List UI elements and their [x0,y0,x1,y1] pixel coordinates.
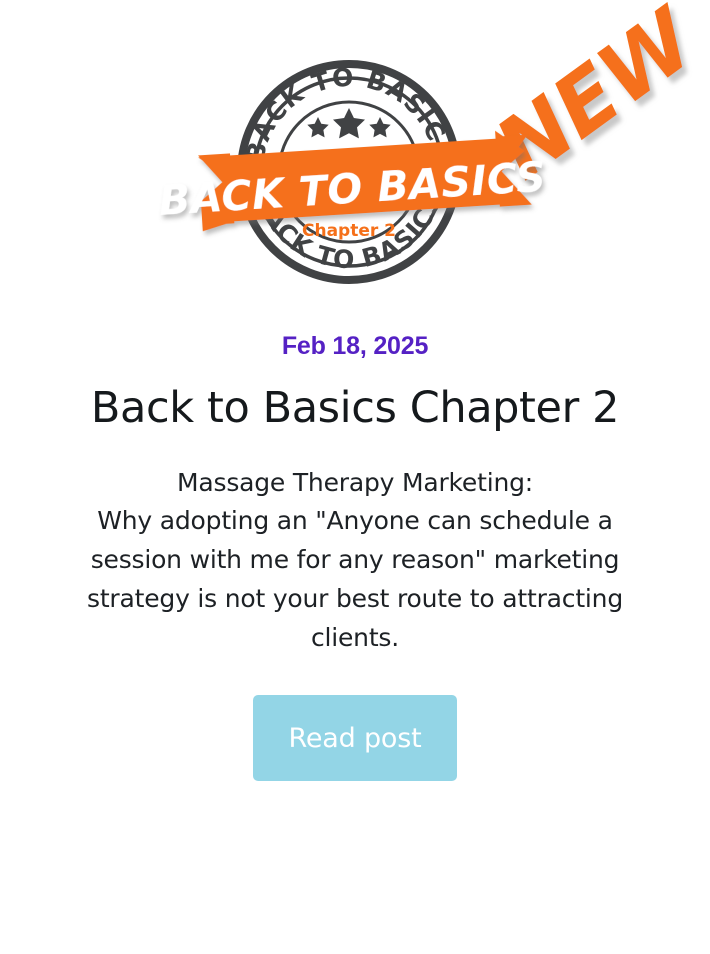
post-title[interactable]: Back to Basics Chapter 2 [55,383,655,434]
post-excerpt-line: Why adopting an "Anyone can schedule a [65,502,645,541]
star-small-left [307,117,328,137]
post-excerpt-line: clients. [65,619,645,658]
post-excerpt-line: strategy is not your best route to attra… [65,580,645,619]
post-excerpt-line: Massage Therapy Marketing: [65,464,645,503]
stamp-chapter-label: Chapter 2 [302,221,396,241]
blog-post-card: NEW BACK TO BASICS BACK TO BASICS [0,0,710,954]
post-excerpt-line: session with me for any reason" marketin… [65,541,645,580]
post-date: Feb 18, 2025 [0,332,710,361]
post-actions: Read post [0,695,710,781]
back-to-basics-stamp-graphic: NEW BACK TO BASICS BACK TO BASICS [0,0,710,310]
star-large-center [333,108,365,138]
post-featured-image: NEW BACK TO BASICS BACK TO BASICS [0,0,710,310]
stamp-ribbon: BACK TO BASICS [156,128,548,234]
star-small-right [369,117,390,137]
read-post-button[interactable]: Read post [253,695,457,781]
post-excerpt: Massage Therapy Marketing: Why adopting … [65,464,645,658]
stamp-stars [307,108,390,138]
